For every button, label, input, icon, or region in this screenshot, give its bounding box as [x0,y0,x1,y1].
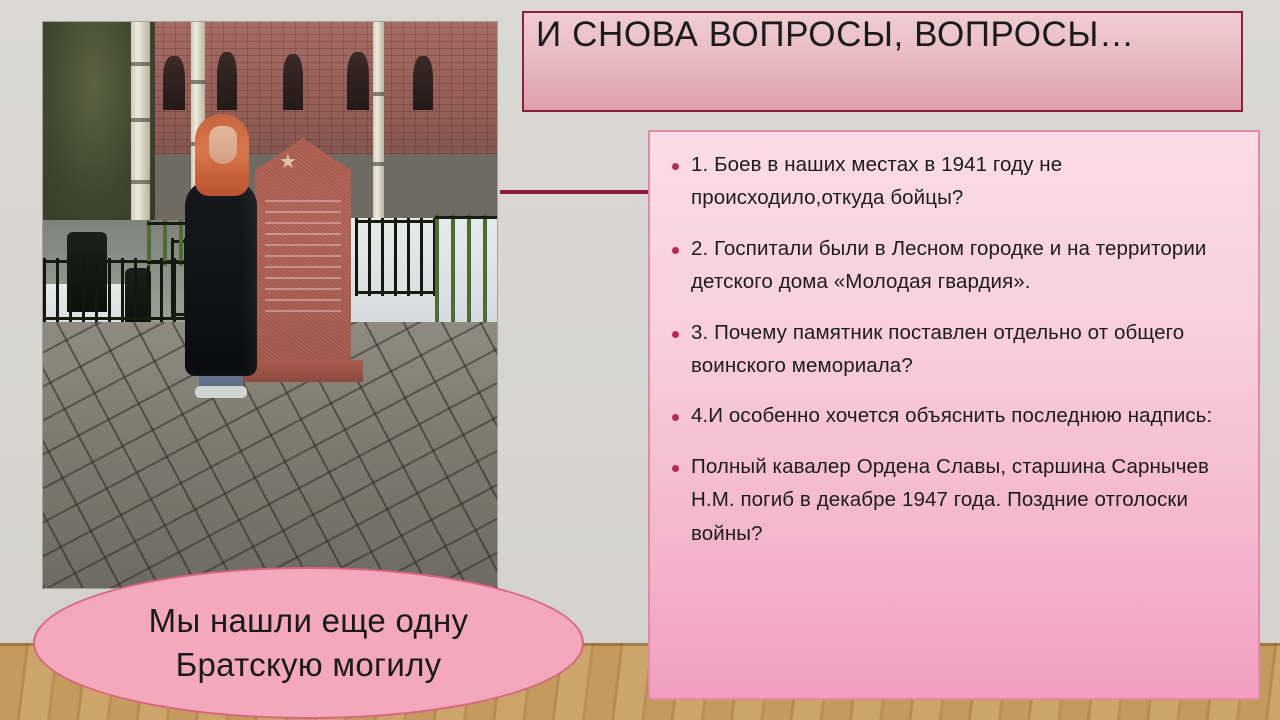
cemetery-photo: ★ [43,22,497,588]
photo-window [413,56,433,110]
list-item: 2. Госпитали были в Лесном городке и на … [664,232,1244,299]
photo-person-face [209,126,237,164]
questions-content-box: 1. Боев в наших местах в 1941 году не пр… [648,130,1260,700]
photo-window [217,52,237,110]
list-item-text: 4.И особенно хочется объяснить последнюю… [691,399,1244,432]
caption-oval: Мы нашли еще одну Братскую могилу [33,567,584,719]
list-item-text: 1. Боев в наших местах в 1941 году не пр… [691,148,1244,215]
list-item-text: 3. Почему памятник поставлен отдельно от… [691,316,1244,383]
photo-green-fence [435,214,497,334]
bullet-dot-icon [672,331,679,338]
photo-window [283,54,303,110]
list-item: Полный кавалер Ордена Славы, старшина Са… [664,450,1244,550]
photo-window [163,56,185,110]
bullet-dot-icon [672,414,679,421]
list-item: 1. Боев в наших местах в 1941 году не пр… [664,148,1244,215]
photo-person-coat [185,180,257,376]
photo-birch-trunk [373,22,384,227]
bullet-dot-icon [672,247,679,254]
bullet-dot-icon [672,163,679,170]
caption-line-1: Мы нашли еще одну [149,599,469,643]
slide-title-box: И СНОВА ВОПРОСЫ, ВОПРОСЫ… [522,11,1243,112]
star-icon: ★ [279,152,297,172]
photo-metal-fence [43,258,191,322]
caption-line-2: Братскую могилу [149,643,469,687]
caption-text: Мы нашли еще одну Братскую могилу [149,599,469,687]
list-item: 4.И особенно хочется объяснить последнюю… [664,399,1244,432]
photo-monument-base [243,360,363,382]
list-item: 3. Почему памятник поставлен отдельно от… [664,316,1244,383]
list-item-text: 2. Госпитали были в Лесном городке и на … [691,232,1244,299]
list-item-text: Полный кавалер Ордена Славы, старшина Са… [691,450,1244,550]
photo-window [347,52,369,110]
photo-monument-inscription [265,200,341,312]
bullet-dot-icon [672,465,679,472]
photo-metal-fence [355,218,435,296]
connector-line [500,190,650,194]
page-title: И СНОВА ВОПРОСЫ, ВОПРОСЫ… [536,15,1135,55]
photo-person-shoes [195,386,247,398]
presentation-slide: ★ И СНОВА ВОПРОСЫ, ВОПРОСЫ… 1. Боев в на… [0,0,1280,720]
